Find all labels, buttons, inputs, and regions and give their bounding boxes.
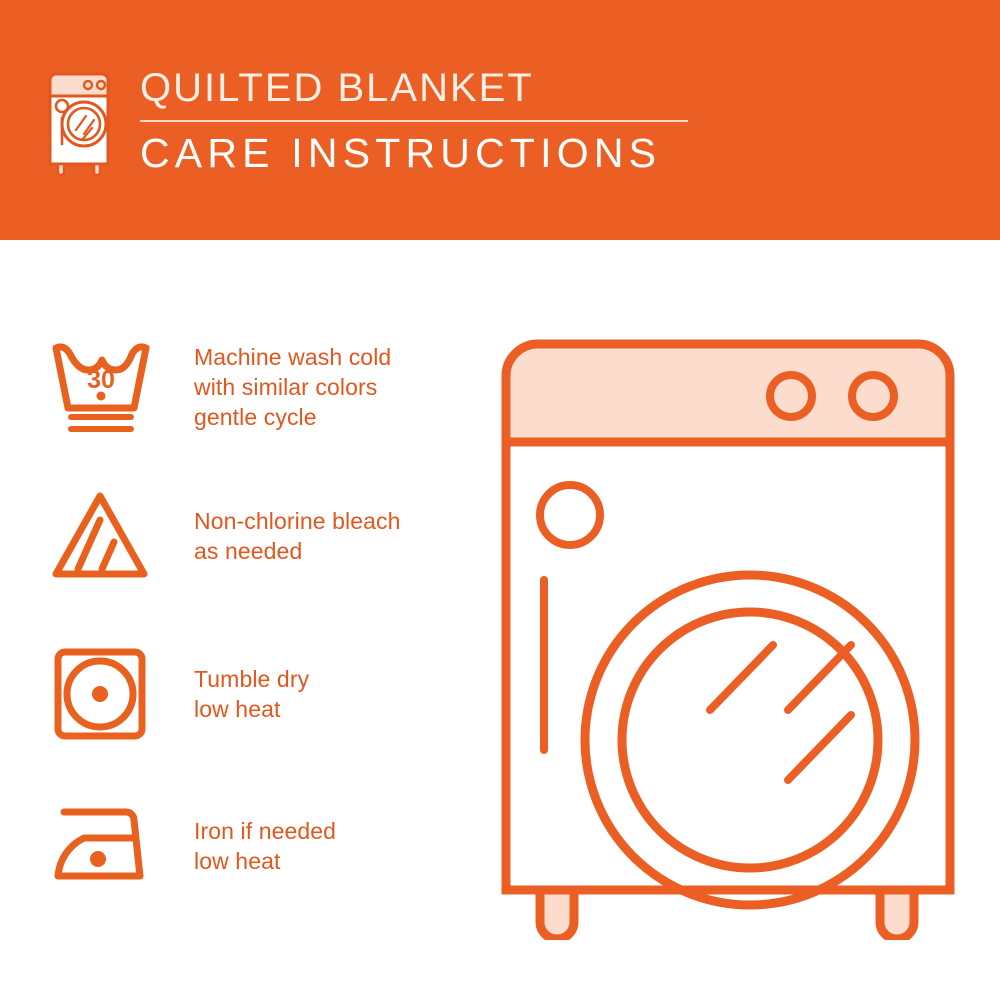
front-load-washing-machine-illustration [488,330,968,940]
instruction-item-machine-wash: 30 Machine wash cold with similar colors… [44,332,464,462]
instruction-label: Tumble dry low heat [156,640,464,724]
instruction-label: Non-chlorine bleach as needed [156,482,464,566]
instruction-item-iron: Iron if needed low heat [44,792,464,922]
instruction-list: 30 Machine wash cold with similar colors… [0,240,480,1000]
instruction-label: Machine wash cold with similar colors ge… [156,332,464,432]
instruction-item-bleach: Non-chlorine bleach as needed [44,482,464,612]
wash-tub-30-gentle-icon: 30 [44,332,156,440]
title-divider [140,120,688,122]
washer-control-panel [506,344,950,442]
tumble-dry-low-heat-icon [44,640,156,744]
instruction-label: Iron if needed low heat [156,792,464,876]
wash-temperature-value: 30 [87,366,115,394]
page-title-primary: QUILTED BLANKET [140,64,700,112]
header-text-block: QUILTED BLANKET CARE INSTRUCTIONS [140,64,700,178]
page-title-secondary: CARE INSTRUCTIONS [140,128,700,178]
non-chlorine-bleach-triangle-icon [44,482,156,586]
instruction-item-tumble-dry: Tumble dry low heat [44,640,464,770]
washer-leg-left [540,890,574,939]
washing-machine-logo-icon [44,66,118,178]
washer-body [506,430,950,890]
washer-leg-right [880,890,914,939]
iron-low-heat-icon [44,792,156,892]
header-banner: QUILTED BLANKET CARE INSTRUCTIONS [0,0,1000,240]
